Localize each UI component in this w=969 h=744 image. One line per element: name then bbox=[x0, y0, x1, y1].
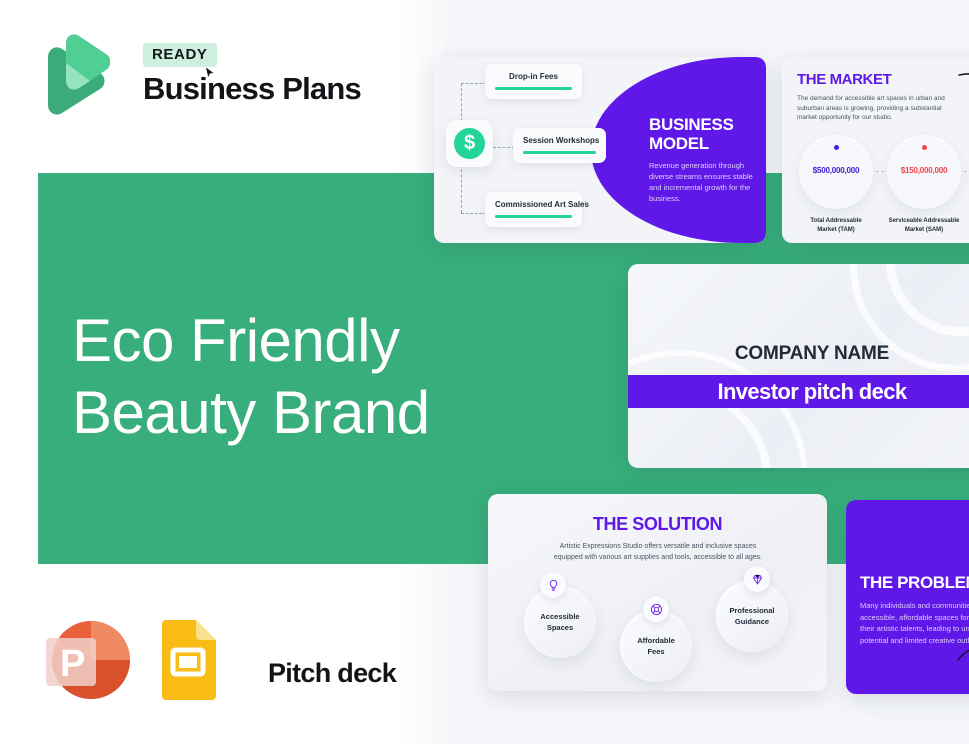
market-metric-circle-sam: $150,000,000 bbox=[887, 135, 961, 209]
powerpoint-icon: P bbox=[38, 616, 130, 704]
label-line-2: Guidance bbox=[729, 616, 774, 627]
label-line-1: Professional bbox=[729, 605, 774, 616]
diamond-icon bbox=[744, 566, 770, 592]
node-accent-bar bbox=[495, 215, 572, 218]
solution-item-label: Accessible Spaces bbox=[540, 611, 579, 633]
metric-dot-icon bbox=[922, 145, 927, 150]
lightbulb-icon bbox=[540, 572, 566, 598]
business-model-body: Revenue generation through diverse strea… bbox=[649, 160, 759, 204]
caption-line-2: Market (SAM) bbox=[880, 226, 968, 235]
slide-the-solution[interactable]: THE SOLUTION Artistic Expressions Studio… bbox=[488, 494, 827, 691]
market-metric-caption-sam: Serviceable Addressable Market (SAM) bbox=[880, 217, 968, 234]
solution-item-1[interactable]: Accessible Spaces bbox=[524, 586, 596, 658]
problem-title: THE PROBLEM bbox=[860, 573, 969, 593]
business-model-hub: $ bbox=[446, 120, 493, 167]
hero-title-line-2: Beauty Brand bbox=[72, 377, 492, 449]
ready-badge: READY bbox=[143, 43, 217, 67]
solution-title: THE SOLUTION bbox=[488, 514, 827, 535]
business-model-title-line-2: MODEL bbox=[649, 134, 761, 153]
company-name-label: COMPANY NAME bbox=[628, 343, 969, 365]
caption-line-1: Serviceable Addressable bbox=[880, 217, 968, 226]
lifebuoy-icon bbox=[643, 596, 669, 622]
market-body: The demand for accessible art spaces in … bbox=[797, 94, 957, 123]
investor-pitch-text: Investor pitch deck bbox=[717, 379, 906, 405]
caption-line-1: Total Addressable bbox=[792, 217, 880, 226]
label-line-1: Accessible bbox=[540, 611, 579, 622]
node-label: Commissioned Art Sales bbox=[495, 200, 572, 209]
node-label: Drop-in Fees bbox=[495, 72, 572, 81]
business-model-node-1[interactable]: Drop-in Fees bbox=[485, 64, 582, 99]
business-model-title-line-1: BUSINESS bbox=[649, 115, 761, 134]
promo-banner: Eco Friendly Beauty Brand BUSINESS MODEL… bbox=[0, 0, 969, 744]
metric-dot-icon bbox=[834, 145, 839, 150]
market-title: THE MARKET bbox=[797, 71, 891, 88]
slide-company-name[interactable]: COMPANY NAME Investor pitch deck bbox=[628, 264, 969, 468]
node-accent-bar bbox=[495, 87, 572, 90]
curved-arrow-icon bbox=[957, 69, 969, 109]
problem-body: Many individuals and communities lack ac… bbox=[860, 600, 969, 646]
dollar-sign-icon: $ bbox=[454, 128, 485, 159]
business-model-node-3[interactable]: Commissioned Art Sales bbox=[485, 192, 582, 227]
brand-logo-text: READY Business Plans bbox=[143, 43, 361, 107]
slide-the-market[interactable]: THE MARKET The demand for accessible art… bbox=[782, 57, 969, 243]
label-line-2: Spaces bbox=[540, 622, 579, 633]
market-metric-circle-tam: $500,000,000 bbox=[799, 135, 873, 209]
solution-item-label: Professional Guidance bbox=[729, 605, 774, 627]
node-label: Session Workshops bbox=[523, 136, 596, 145]
google-slides-icon bbox=[156, 620, 220, 700]
decorative-rings bbox=[628, 264, 969, 468]
slide-the-problem[interactable]: THE PROBLEM Many individuals and communi… bbox=[846, 500, 969, 694]
market-metric-caption-tam: Total Addressable Market (TAM) bbox=[792, 217, 880, 234]
curved-arrow-icon bbox=[956, 640, 969, 670]
apps-label: Pitch deck bbox=[268, 658, 396, 689]
cursor-arrow-icon bbox=[205, 67, 215, 79]
business-model-node-2[interactable]: Session Workshops bbox=[513, 128, 606, 163]
label-line-1: Affordable bbox=[637, 635, 675, 646]
metric-value: $500,000,000 bbox=[799, 166, 873, 175]
business-model-title: BUSINESS MODEL bbox=[649, 115, 761, 153]
caption-line-2: Market (TAM) bbox=[792, 226, 880, 235]
connector-to-node-3 bbox=[461, 213, 487, 214]
svg-text:P: P bbox=[60, 643, 85, 685]
solution-body: Artistic Expressions Studio offers versa… bbox=[552, 541, 764, 563]
ring-4 bbox=[628, 350, 808, 468]
connector-to-node-2 bbox=[493, 147, 515, 148]
brand-logo[interactable]: READY Business Plans bbox=[38, 33, 338, 121]
page-title: Eco Friendly Beauty Brand bbox=[72, 305, 492, 449]
brand-name-text: Business Plans bbox=[143, 71, 361, 106]
brand-name: Business Plans bbox=[143, 71, 361, 107]
connector-to-node-1 bbox=[461, 83, 487, 84]
label-line-2: Fees bbox=[637, 646, 675, 657]
investor-pitch-band: Investor pitch deck bbox=[628, 375, 969, 408]
metric-value: $150,000,000 bbox=[887, 166, 961, 175]
hero-title-line-1: Eco Friendly bbox=[72, 305, 492, 377]
node-accent-bar bbox=[523, 151, 596, 154]
play-triangle-logo bbox=[38, 33, 110, 121]
solution-item-label: Affordable Fees bbox=[637, 635, 675, 657]
